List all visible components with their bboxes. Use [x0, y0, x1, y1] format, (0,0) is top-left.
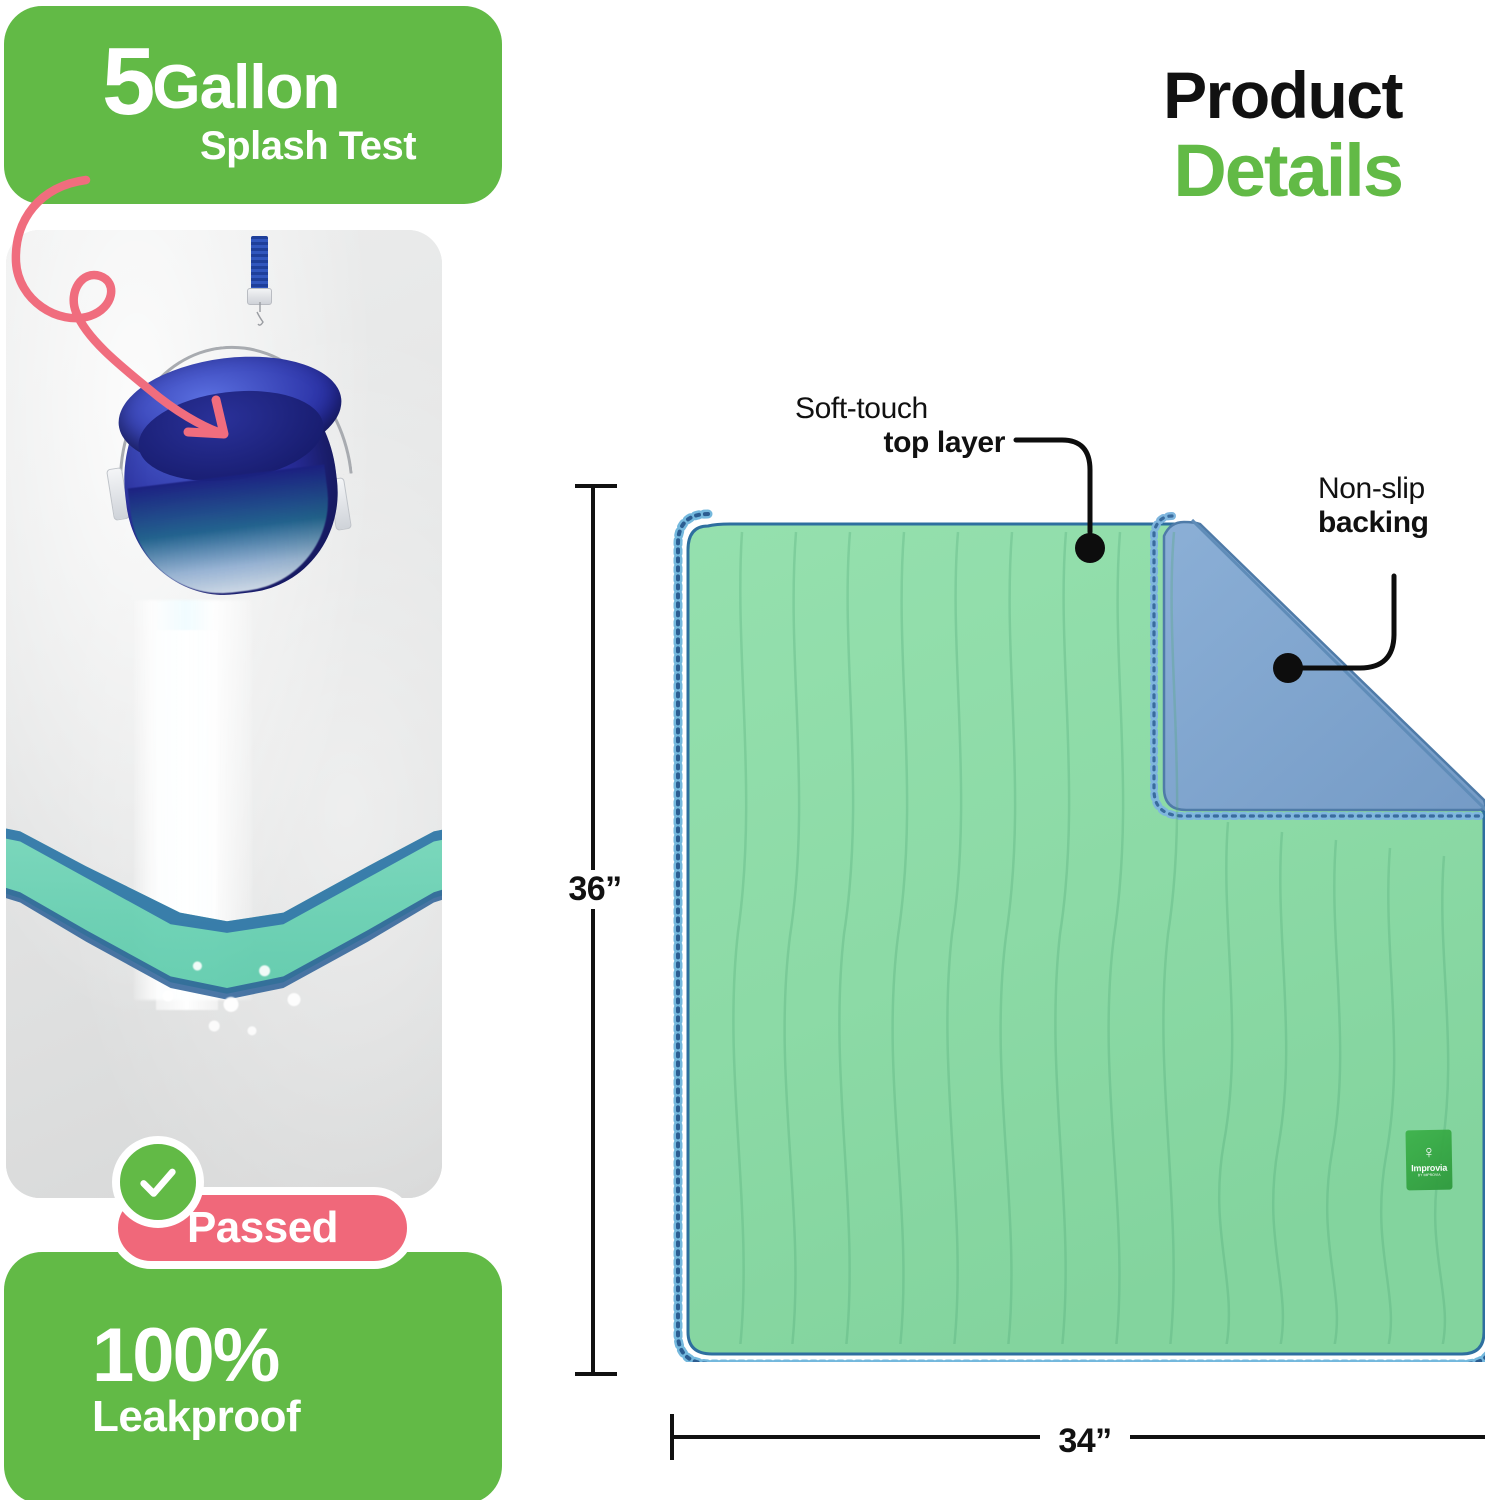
callout-non-slip-line2: backing: [1318, 506, 1485, 540]
page-title-line1: Product: [1060, 62, 1402, 129]
dimension-line-width: [650, 1398, 1485, 1478]
pad-nonslip-backing: [1164, 522, 1485, 814]
improvia-logo-mark: ♀: [1422, 1143, 1436, 1161]
leakproof-subtitle: Leakproof: [92, 1392, 300, 1442]
dimension-line-height: [555, 470, 635, 1390]
leakproof-badge: 100% Leakproof: [4, 1252, 502, 1500]
pad-top-layer: [688, 524, 1484, 1354]
callout-non-slip-backing: Non-slip backing: [1318, 472, 1485, 540]
page-title: Product Details: [1060, 62, 1402, 209]
bucket-pour-lip: [128, 464, 339, 603]
callout-soft-touch-top-layer: Soft-touch top layer: [795, 392, 1005, 460]
passed-label: Passed: [187, 1203, 338, 1253]
callout-soft-touch-line1: Soft-touch: [795, 392, 1005, 426]
splash-test-badge-title: 5Gallon: [102, 36, 339, 127]
water-splash: [126, 930, 336, 1050]
pink-pointer-arrow-icon: [10, 150, 290, 480]
callout-soft-touch-line2: top layer: [795, 426, 1005, 460]
gallon-unit: Gallon: [152, 53, 339, 122]
improvia-wordmark: Improvia: [1411, 1163, 1447, 1174]
pad-illustration: [672, 492, 1485, 1362]
check-icon: [135, 1159, 181, 1205]
passed-check-badge: [112, 1136, 204, 1228]
improvia-tagline: BY IMPROVIA: [1418, 1173, 1441, 1177]
product-details-infographic: 5Gallon Splash Test: [0, 0, 1485, 1500]
gallon-number: 5: [102, 28, 152, 135]
callout-non-slip-line1: Non-slip: [1318, 472, 1485, 506]
improvia-brand-tag: ♀ Improvia BY IMPROVIA: [1405, 1130, 1452, 1191]
page-title-line2: Details: [1060, 133, 1402, 208]
leakproof-headline: 100%: [92, 1318, 278, 1394]
